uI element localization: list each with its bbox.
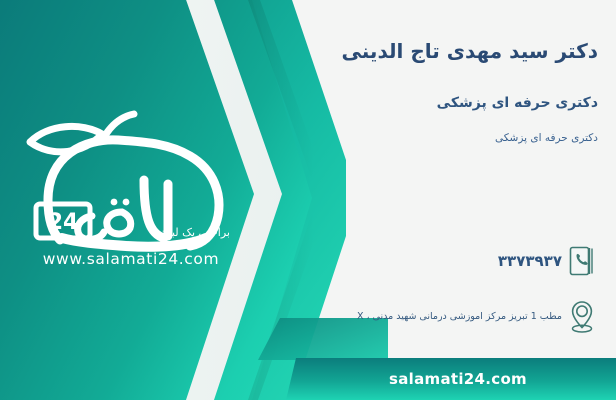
doctor-specialty-primary: دکتری حرفه ای پزشکی xyxy=(178,95,598,111)
contact-block: ۳۳۷۳۹۳۷ مطب 1 تبریز مرکز اموزشی درمانی ش… xyxy=(182,240,602,352)
phone-number: ۳۳۷۳۹۳۷ xyxy=(182,252,562,270)
brand-tagline: براحتی یک لبخند xyxy=(156,226,230,239)
svg-text:24: 24 xyxy=(48,210,79,235)
business-card: 24 براحتی یک لبخند www.salamati24.com دک… xyxy=(0,0,616,400)
doctor-name: دکتر سید مهدی تاج الدینی xyxy=(178,38,598,64)
footer-site-label[interactable]: salamati24.com xyxy=(300,358,616,400)
map-pin-icon xyxy=(562,296,602,338)
contact-row-phone[interactable]: ۳۳۷۳۹۳۷ xyxy=(182,240,602,282)
contact-row-address[interactable]: مطب 1 تبریز مرکز اموزشی درمانی شهید مدنی… xyxy=(182,296,602,338)
address-text: مطب 1 تبریز مرکز اموزشی درمانی شهید مدنی… xyxy=(182,310,562,324)
phone-book-icon xyxy=(562,240,602,282)
doctor-specialty-secondary: دکتری حرفه ای پزشکی xyxy=(178,132,598,144)
